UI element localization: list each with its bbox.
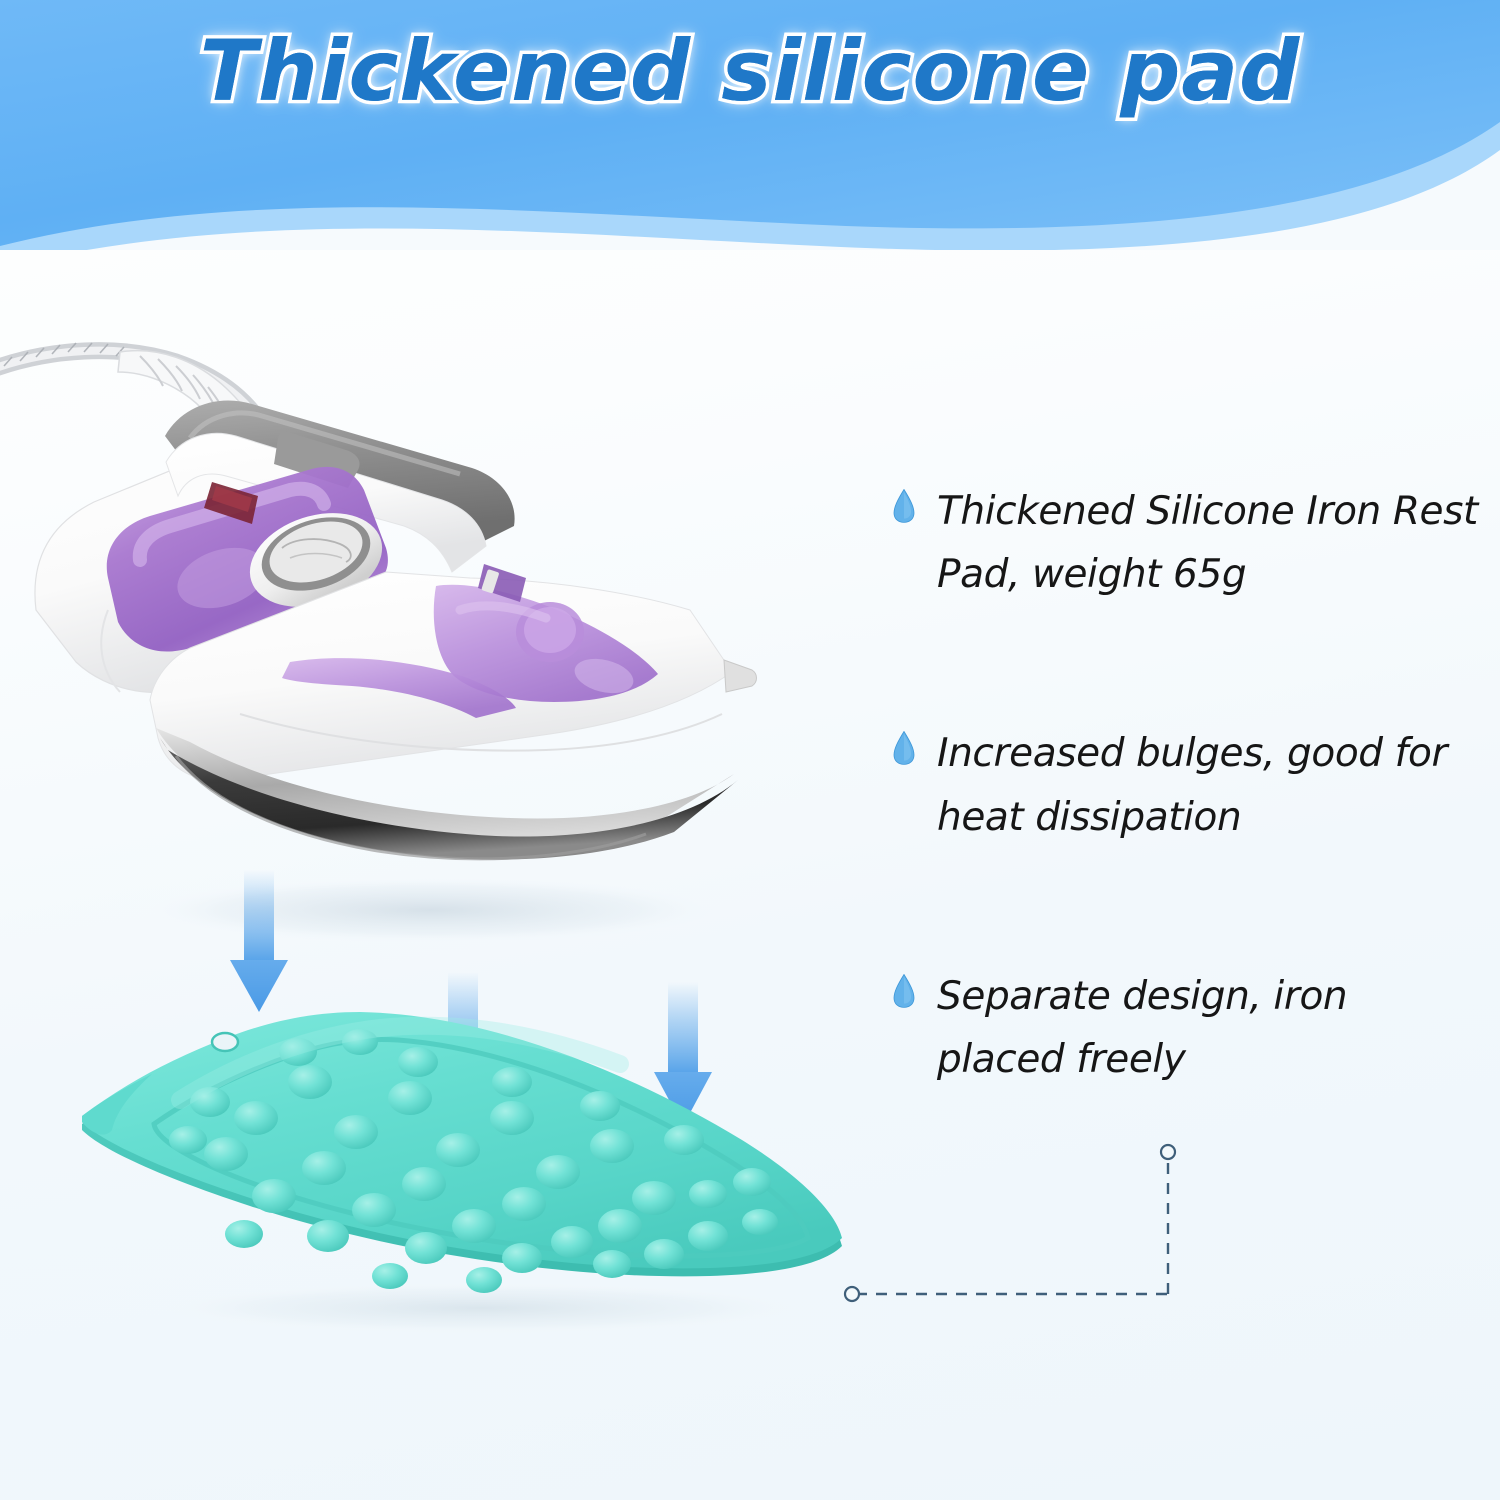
banner-wave-shape (0, 0, 1500, 250)
dimension-endpoint (1161, 1145, 1175, 1159)
iron-nose-knob (724, 660, 757, 692)
product-illustration-area (0, 250, 1500, 1500)
dimension-callout (830, 1130, 1230, 1330)
pad-hanging-hole (212, 1033, 238, 1051)
dimension-endpoint (845, 1287, 859, 1301)
header-banner: Thickened silicone pad Thickened silicon… (0, 0, 1500, 250)
silicone-iron-rest-pad (60, 990, 890, 1340)
product-infographic: Thickened silicone pad Thickened silicon… (0, 0, 1500, 1500)
